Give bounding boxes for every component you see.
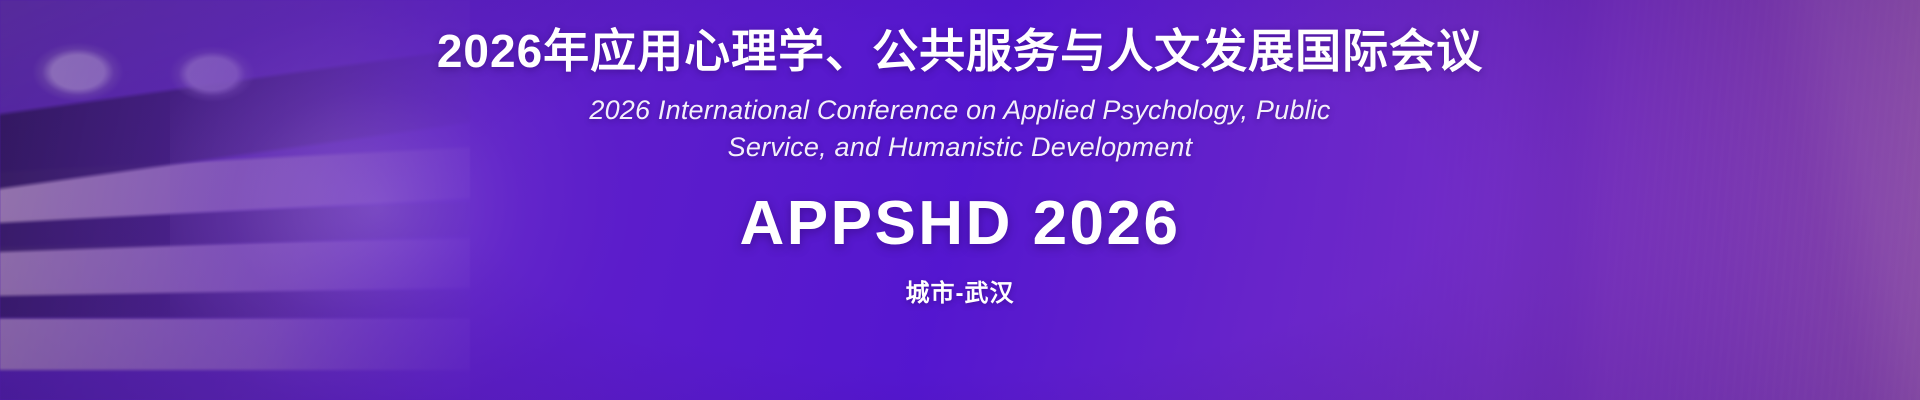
conference-title-english: 2026 International Conference on Applied… xyxy=(589,92,1330,167)
banner-content: 2026年应用心理学、公共服务与人文发展国际会议 2026 Internatio… xyxy=(0,0,1920,400)
conference-acronym: APPSHD 2026 xyxy=(739,188,1180,259)
conference-banner: 2026年应用心理学、公共服务与人文发展国际会议 2026 Internatio… xyxy=(0,0,1920,400)
conference-title-english-line-1: 2026 International Conference on Applied… xyxy=(589,92,1330,129)
conference-title-english-line-2: Service, and Humanistic Development xyxy=(589,129,1330,166)
conference-city: 城市-武汉 xyxy=(906,273,1015,308)
conference-title-chinese: 2026年应用心理学、公共服务与人文发展国际会议 xyxy=(437,26,1483,78)
